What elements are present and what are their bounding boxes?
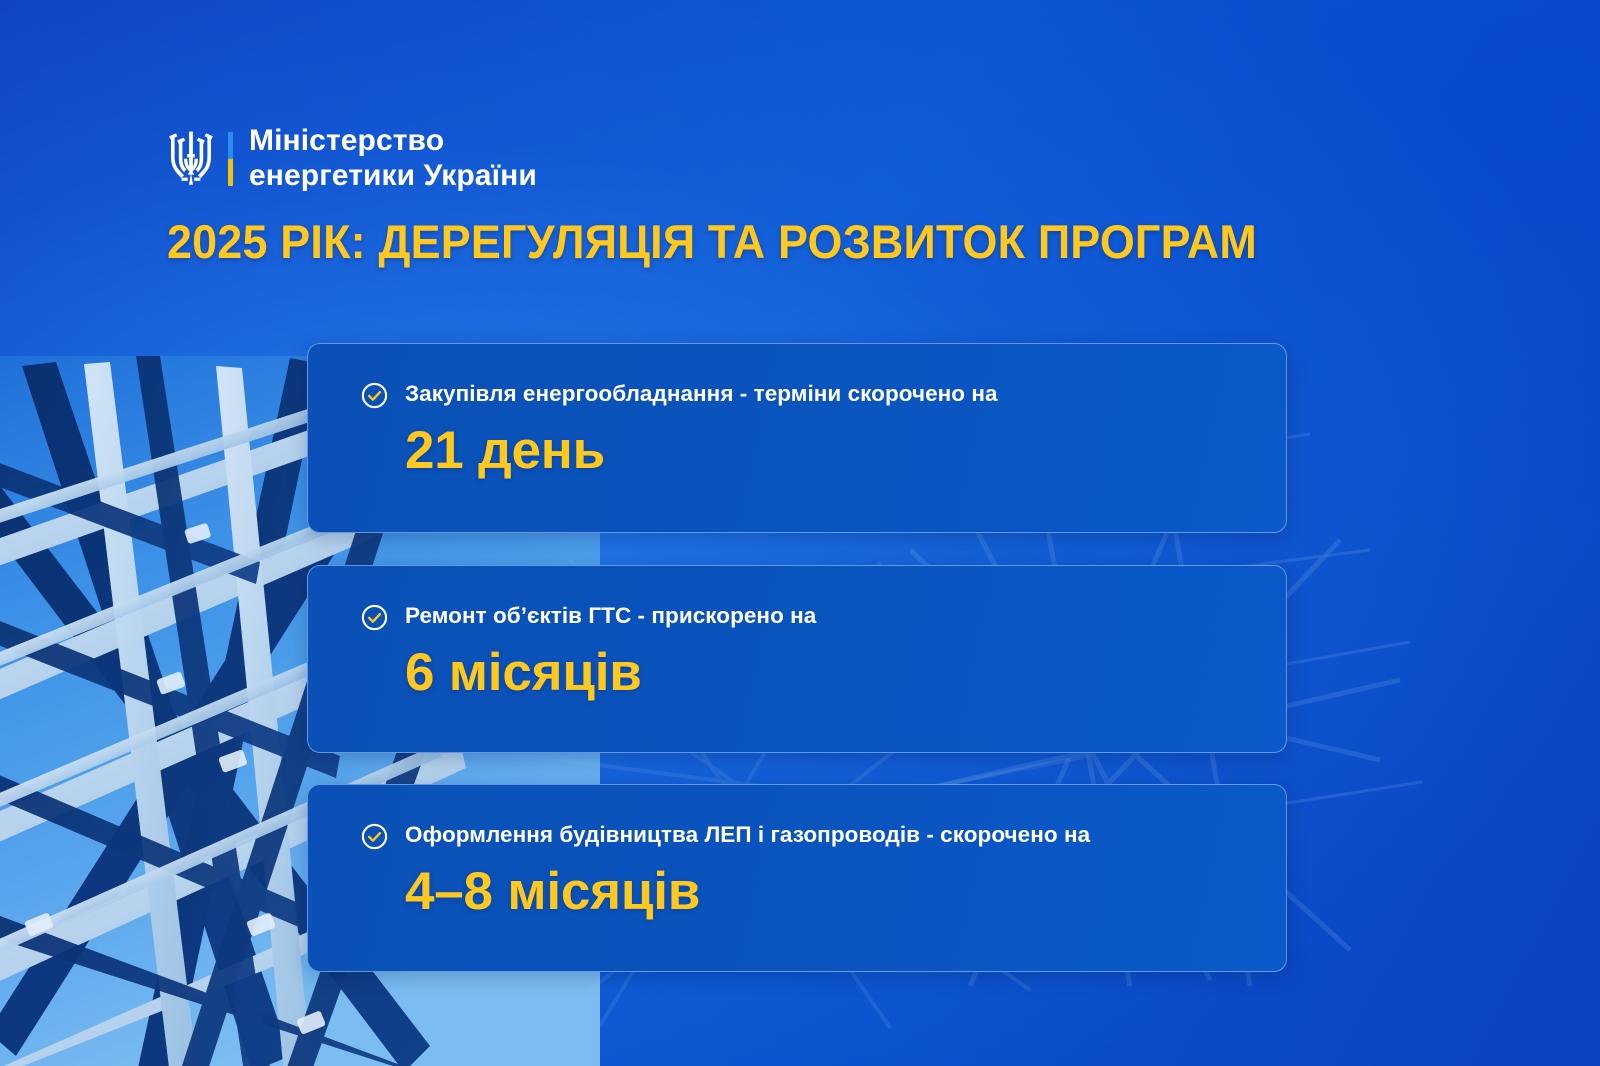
stat-card-label: Закупівля енергообладнання - терміни ско… xyxy=(405,378,998,409)
stat-card-value: 21 день xyxy=(405,424,1246,477)
check-circle-icon xyxy=(361,604,388,631)
ukraine-trident-icon xyxy=(168,129,214,189)
card-header: Закупівля енергообладнання - терміни ско… xyxy=(361,378,1246,409)
stat-card-value: 4–8 місяців xyxy=(405,865,1246,918)
stat-card-label: Ремонт об’єктів ГТС - прискорено на xyxy=(405,600,816,631)
stat-card-value: 6 місяців xyxy=(405,646,1246,699)
check-circle-icon xyxy=(361,823,388,850)
stat-card-label: Оформлення будівництва ЛЕП і газопроводі… xyxy=(405,819,1090,850)
ministry-name: Міністерство енергетики України xyxy=(249,124,537,194)
ministry-logo: Міністерство енергетики України xyxy=(168,124,537,194)
stat-card-procurement: Закупівля енергообладнання - терміни ско… xyxy=(307,343,1287,533)
page-title: 2025 РІК: ДЕРЕГУЛЯЦІЯ ТА РОЗВИТОК ПРОГРА… xyxy=(167,218,1257,267)
flag-divider-icon xyxy=(228,132,233,186)
check-circle-icon xyxy=(361,382,388,409)
card-header: Оформлення будівництва ЛЕП і газопроводі… xyxy=(361,819,1246,850)
ministry-name-line2: енергетики України xyxy=(249,159,537,194)
infographic-poster: Міністерство енергетики України 2025 РІК… xyxy=(0,0,1600,1066)
card-header: Ремонт об’єктів ГТС - прискорено на xyxy=(361,600,1246,631)
stat-card-gts-repair: Ремонт об’єктів ГТС - прискорено на 6 мі… xyxy=(307,565,1287,753)
statistics-card-list: Закупівля енергообладнання - терміни ско… xyxy=(307,343,1287,972)
stat-card-construction-permits: Оформлення будівництва ЛЕП і газопроводі… xyxy=(307,784,1287,972)
ministry-name-line1: Міністерство xyxy=(249,124,537,159)
